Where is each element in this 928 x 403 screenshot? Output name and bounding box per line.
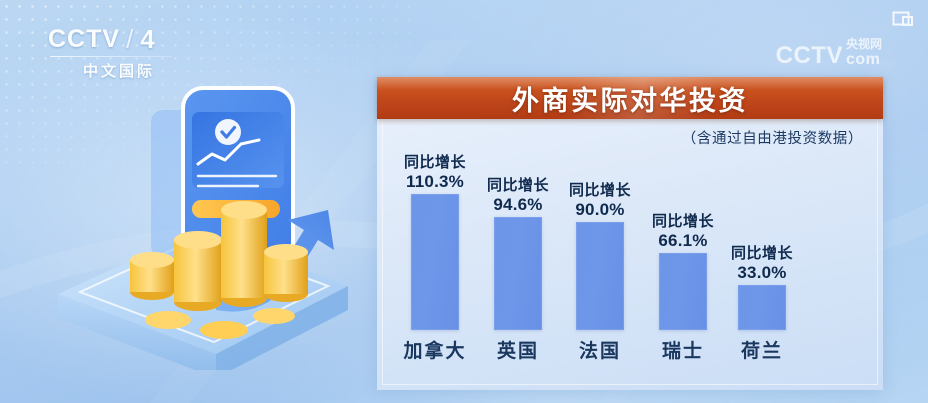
bar-growth-label-uk: 同比增长 (487, 178, 549, 195)
bar-value-switzerland: 66.1% (652, 231, 714, 250)
watermark-chinese-text: 央视网 (846, 38, 882, 51)
bar-rect-canada[interactable] (411, 194, 459, 330)
bar-category-netherlands: 荷兰 (741, 336, 783, 363)
bar-group-canada: 同比增长 110.3% 加拿大 (408, 194, 462, 330)
bar-caption-netherlands: 同比增长 33.0% (731, 246, 793, 285)
bar-growth-label-france: 同比增长 (569, 183, 631, 200)
bar-rect-uk[interactable] (494, 217, 542, 330)
bar-growth-label-canada: 同比增长 (404, 155, 466, 172)
bar-caption-switzerland: 同比增长 66.1% (652, 214, 714, 253)
bar-group-switzerland: 同比增长 66.1% 瑞士 (656, 253, 710, 330)
bar-caption-france: 同比增长 90.0% (569, 183, 631, 222)
bar-value-netherlands: 33.0% (731, 263, 793, 282)
bar-category-france: 法国 (579, 336, 621, 363)
bar-rect-switzerland[interactable] (659, 253, 707, 330)
bar-caption-uk: 同比增长 94.6% (487, 178, 549, 217)
investment-growth-illustration (48, 80, 378, 370)
picture-in-picture-icon[interactable] (892, 8, 914, 28)
cctv4-logo-subtitle: 中文国际 (48, 60, 188, 81)
cctv-com-watermark: CCTV 央视网 com (776, 38, 882, 68)
bar-caption-canada: 同比增长 110.3% (404, 155, 466, 194)
bar-group-france: 同比增长 90.0% 法国 (573, 222, 627, 330)
cctv4-logo-number: 4 (140, 26, 155, 52)
bar-value-france: 90.0% (569, 200, 631, 219)
watermark-main-text: CCTV (776, 44, 843, 68)
bar-growth-label-switzerland: 同比增长 (652, 214, 714, 231)
bar-group-uk: 同比增长 94.6% 英国 (491, 217, 545, 330)
bar-category-canada: 加拿大 (403, 336, 466, 363)
cctv4-logo-main: CCTV (48, 27, 120, 52)
bar-growth-label-netherlands: 同比增长 (731, 246, 793, 263)
bar-chart: 同比增长 110.3% 加拿大 同比增长 94.6% 英国 同比增长 90.0%… (377, 77, 883, 390)
cctv4-channel-logo: CCTV / 4 中文国际 (48, 26, 188, 82)
bar-category-uk: 英国 (497, 336, 539, 363)
bar-value-uk: 94.6% (487, 195, 549, 214)
bar-value-canada: 110.3% (404, 172, 466, 191)
bar-rect-france[interactable] (576, 222, 624, 330)
bar-rect-netherlands[interactable] (738, 285, 786, 330)
check-circle-icon (215, 119, 241, 145)
bar-group-netherlands: 同比增长 33.0% 荷兰 (735, 285, 789, 330)
watermark-right-group: 央视网 com (846, 38, 882, 68)
cctv4-logo-row: CCTV / 4 (48, 26, 188, 52)
cctv4-logo-divider (50, 56, 172, 57)
chart-panel: 外商实际对华投资 （含通过自由港投资数据） 同比增长 110.3% 加拿大 同比… (377, 77, 883, 390)
page-title: 外商实际对华投资 (512, 79, 748, 118)
watermark-com-text: com (846, 52, 880, 68)
bar-category-switzerland: 瑞士 (662, 336, 704, 363)
cctv4-logo-separator: / (126, 26, 134, 52)
